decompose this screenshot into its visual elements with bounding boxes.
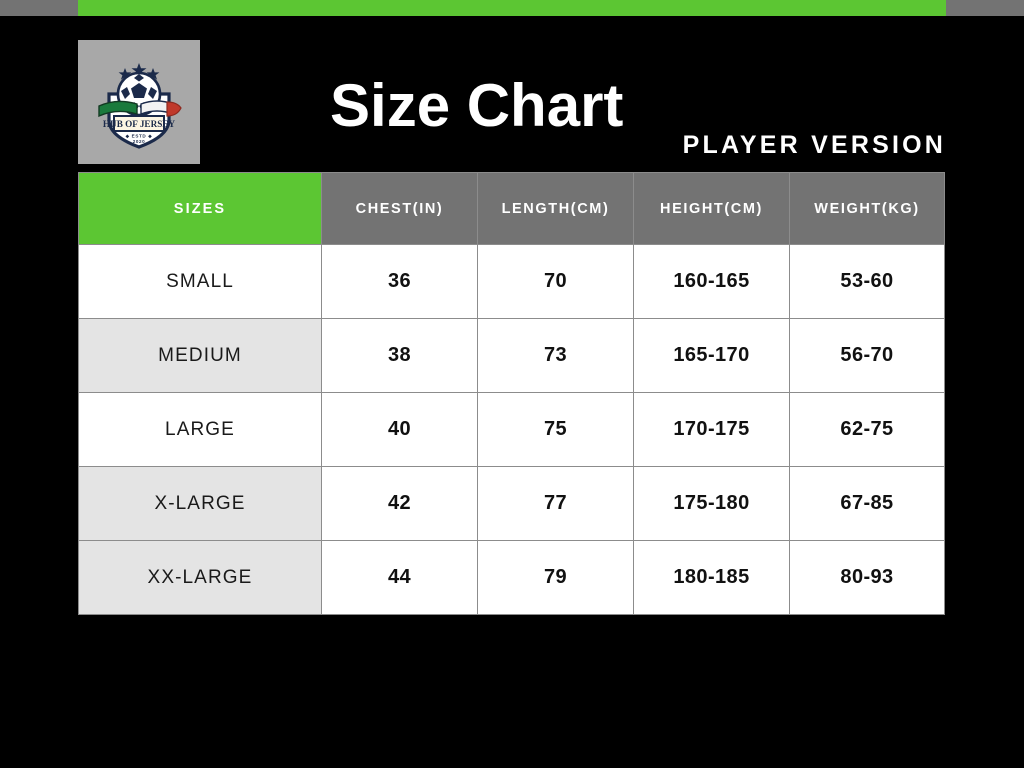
- top-bar-left-gray-segment: [0, 0, 78, 16]
- chest-cell: 40: [322, 393, 478, 467]
- column-header-weight: WEIGHT(KG): [790, 173, 945, 245]
- size-cell: XX-LARGE: [79, 541, 322, 615]
- height-cell: 165-170: [634, 319, 790, 393]
- hub-of-jersey-logo: HUB OF JERSEY ◆ ESTD ◆ 2020: [78, 40, 200, 164]
- table-row: MEDIUM3873165-17056-70: [79, 319, 945, 393]
- chest-cell: 44: [322, 541, 478, 615]
- logo-estd-line1: ◆ ESTD ◆: [125, 134, 153, 139]
- table-row: X-LARGE4277175-18067-85: [79, 467, 945, 541]
- top-decorative-bar: [0, 0, 1024, 16]
- weight-cell: 56-70: [790, 319, 945, 393]
- weight-cell: 80-93: [790, 541, 945, 615]
- size-chart-page: HUB OF JERSEY ◆ ESTD ◆ 2020 Size Chart P…: [0, 0, 1024, 768]
- chest-cell: 42: [322, 467, 478, 541]
- length-cell: 75: [478, 393, 634, 467]
- table-row: SMALL3670160-16553-60: [79, 245, 945, 319]
- size-cell: LARGE: [79, 393, 322, 467]
- size-cell: SMALL: [79, 245, 322, 319]
- logo-estd-line2: 2020: [133, 139, 146, 144]
- column-header-height: HEIGHT(CM): [634, 173, 790, 245]
- height-cell: 175-180: [634, 467, 790, 541]
- height-cell: 160-165: [634, 245, 790, 319]
- length-cell: 79: [478, 541, 634, 615]
- top-bar-right-gray-segment: [946, 0, 1024, 16]
- logo-banner-text: HUB OF JERSEY: [103, 119, 176, 129]
- page-title: Size Chart: [330, 76, 623, 136]
- length-cell: 77: [478, 467, 634, 541]
- size-cell: X-LARGE: [79, 467, 322, 541]
- column-header-length: LENGTH(CM): [478, 173, 634, 245]
- table-header: SIZES CHEST(IN) LENGTH(CM) HEIGHT(CM) WE…: [79, 173, 945, 245]
- table-body: SMALL3670160-16553-60MEDIUM3873165-17056…: [79, 245, 945, 615]
- length-cell: 70: [478, 245, 634, 319]
- chest-cell: 36: [322, 245, 478, 319]
- logo-crest-icon: HUB OF JERSEY ◆ ESTD ◆ 2020: [87, 50, 191, 154]
- size-chart-table: SIZES CHEST(IN) LENGTH(CM) HEIGHT(CM) WE…: [78, 172, 945, 615]
- length-cell: 73: [478, 319, 634, 393]
- height-cell: 180-185: [634, 541, 790, 615]
- table-header-row: SIZES CHEST(IN) LENGTH(CM) HEIGHT(CM) WE…: [79, 173, 945, 245]
- size-cell: MEDIUM: [79, 319, 322, 393]
- weight-cell: 62-75: [790, 393, 945, 467]
- page-subtitle: PLAYER VERSION: [683, 133, 946, 158]
- height-cell: 170-175: [634, 393, 790, 467]
- top-bar-green-segment: [78, 0, 946, 16]
- table-row: LARGE4075170-17562-75: [79, 393, 945, 467]
- weight-cell: 67-85: [790, 467, 945, 541]
- weight-cell: 53-60: [790, 245, 945, 319]
- column-header-chest: CHEST(IN): [322, 173, 478, 245]
- table-row: XX-LARGE4479180-18580-93: [79, 541, 945, 615]
- chest-cell: 38: [322, 319, 478, 393]
- column-header-sizes: SIZES: [79, 173, 322, 245]
